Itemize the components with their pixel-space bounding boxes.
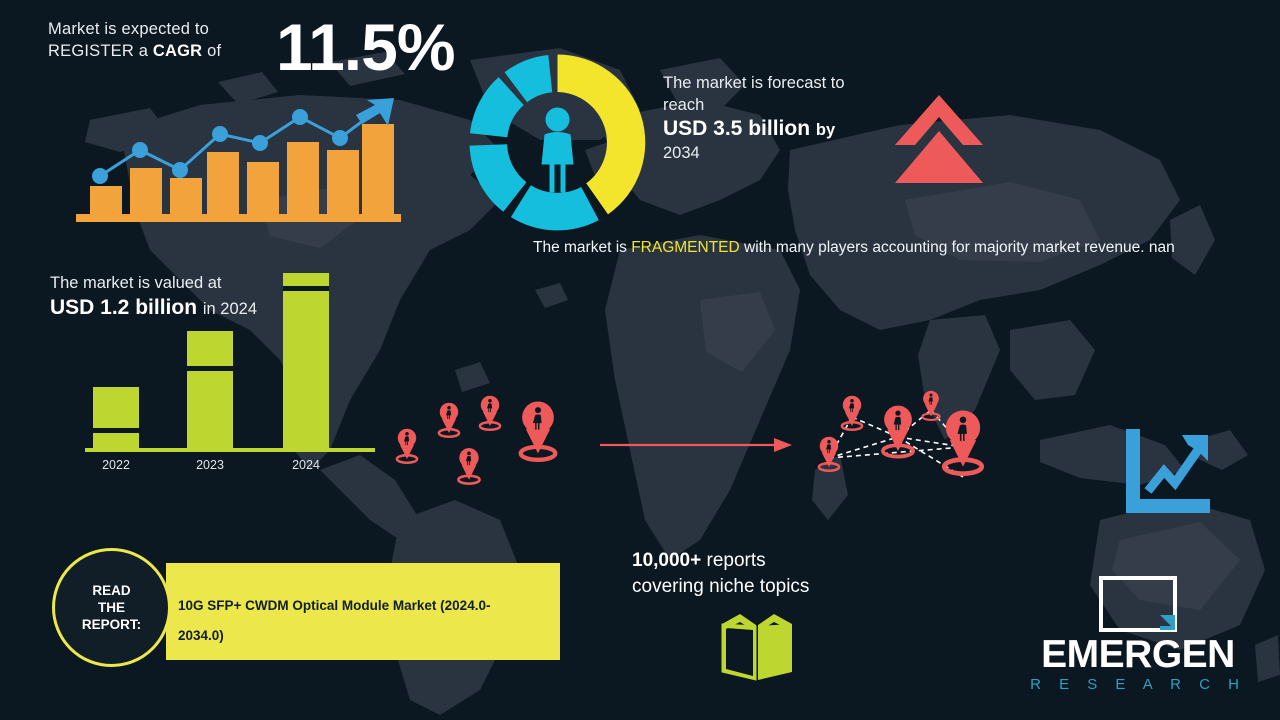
map-pin-person-icon xyxy=(439,403,459,437)
reports-block: 10,000+ reports covering niche topics xyxy=(632,548,872,600)
scattered-map-pins xyxy=(380,385,595,495)
fragmented-pre: The market is xyxy=(533,239,631,256)
cagr-keyword: CAGR xyxy=(153,42,202,60)
map-pin-person-icon xyxy=(458,448,479,484)
cagr-line-1: Market is expected to xyxy=(48,18,260,40)
donut-segment-cyan-2 xyxy=(470,144,527,212)
map-pin-person-icon xyxy=(819,437,839,471)
fragmented-statement: The market is FRAGMENTED with many playe… xyxy=(533,236,1213,259)
cagr-line-2-pre: REGISTER a xyxy=(48,42,153,60)
green-bar-2023 xyxy=(187,331,233,449)
map-pin-person-icon xyxy=(842,396,862,430)
cagr-block: Market is expected to REGISTER a CAGR of… xyxy=(48,18,468,62)
green-bar-2022 xyxy=(93,387,139,449)
map-pin-person-icon xyxy=(521,402,556,460)
green-chart-year-2023: 2023 xyxy=(177,458,243,472)
brand-logo: EMERGEN R E S E A R C H xyxy=(1018,575,1258,705)
map-pin-person-icon xyxy=(944,410,981,473)
forecast-line-2: reach xyxy=(663,94,903,116)
report-title: 10G SFP+ CWDM Optical Module Market (202… xyxy=(178,591,530,651)
forecast-line-1: The market is forecast to xyxy=(663,72,903,94)
orange-bar-chart-with-trend-line xyxy=(62,86,412,226)
square-frame-icon xyxy=(1098,575,1178,633)
green-bar-split xyxy=(187,366,233,371)
valuation-label: The market is valued at xyxy=(50,272,380,294)
double-up-arrow-icon xyxy=(893,93,985,185)
infographic-canvas: Market is expected to REGISTER a CAGR of… xyxy=(0,0,1280,720)
logo-wordmark: EMERGEN xyxy=(1018,633,1258,677)
reports-count-line: 10,000+ reports xyxy=(632,548,872,574)
read-the-report-label: READTHEREPORT: xyxy=(82,582,141,633)
map-pin-person-icon xyxy=(397,429,417,463)
reports-count-suffix: reports xyxy=(701,550,765,571)
forecast-value: USD 3.5 billion by xyxy=(663,116,903,143)
logo-subtitle: R E S E A R C H xyxy=(1018,676,1258,694)
orange-chart-baseline xyxy=(76,214,401,222)
connected-map-pins-network xyxy=(805,385,1017,505)
forecast-year: 2034 xyxy=(663,143,903,164)
green-chart-year-2024: 2024 xyxy=(273,458,339,472)
reports-subtitle: covering niche topics xyxy=(632,574,872,600)
growth-chart-arrow-icon xyxy=(1122,427,1212,517)
reports-count-value: 10,000+ xyxy=(632,550,701,571)
fragmented-post: with many players accounting for majorit… xyxy=(740,239,1175,256)
right-arrow-icon xyxy=(598,435,793,455)
read-the-report-button[interactable]: READTHEREPORT: xyxy=(52,548,171,667)
cagr-line-2-post: of xyxy=(202,42,221,60)
person-icon xyxy=(542,108,574,193)
map-pin-person-icon xyxy=(480,396,500,430)
cagr-value: 11.5% xyxy=(276,14,455,80)
cagr-label: Market is expected to REGISTER a CAGR of xyxy=(48,18,260,62)
map-pin-person-icon xyxy=(922,391,939,420)
green-bar-split xyxy=(283,286,329,291)
map-pin-person-icon xyxy=(883,406,913,457)
donut-segment-yellow xyxy=(558,55,646,215)
donut-chart xyxy=(465,50,650,235)
green-bar-split xyxy=(93,428,139,433)
donut-segment-cyan-1 xyxy=(511,185,599,230)
green-chart-year-2022: 2022 xyxy=(83,458,149,472)
forecast-by: by xyxy=(816,121,835,139)
fragmented-highlight: FRAGMENTED xyxy=(631,239,740,256)
open-book-icon xyxy=(718,612,796,682)
trend-arrow-head xyxy=(356,98,394,126)
cagr-line-2: REGISTER a CAGR of xyxy=(48,40,260,62)
forecast-amount: USD 3.5 billion xyxy=(663,117,810,140)
green-bar-chart: 2022 2023 2024 xyxy=(75,296,375,471)
green-bar-2024 xyxy=(283,273,329,449)
forecast-block: The market is forecast to reach USD 3.5 … xyxy=(663,72,903,164)
report-banner[interactable]: 10G SFP+ CWDM Optical Module Market (202… xyxy=(166,563,560,660)
